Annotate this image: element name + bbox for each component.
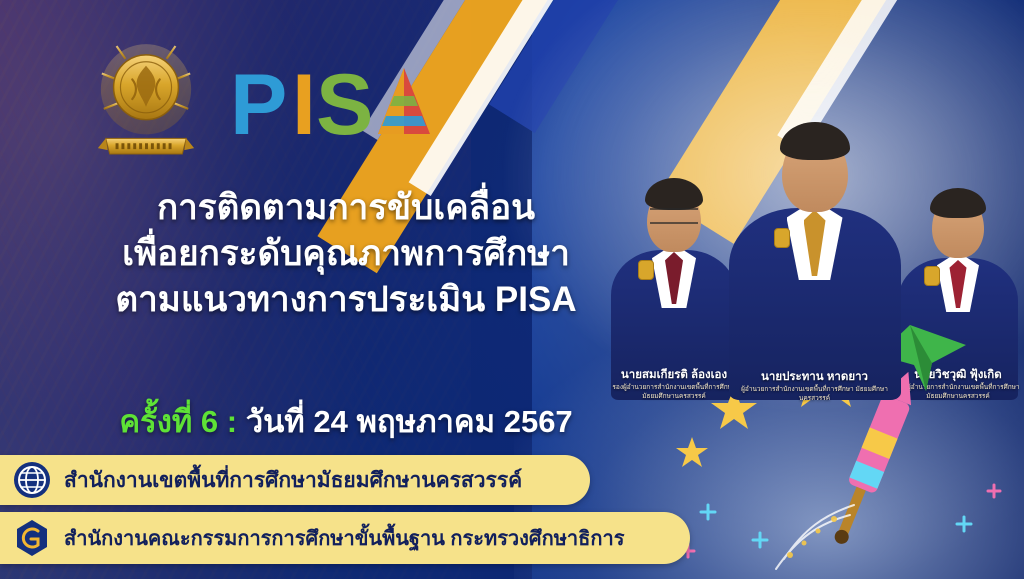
poster-canvas: P I S นายสมเกียรติ ล้องเอง <box>0 0 1024 579</box>
title-line-2: เพื่อยกระดับคุณภาพการศึกษา <box>36 231 656 277</box>
ministry-of-education-emblem <box>92 28 200 178</box>
session-label: ครั้งที่ 6 : <box>119 404 237 439</box>
svg-text:P: P <box>230 57 287 153</box>
pisa-logo: P I S <box>228 52 448 162</box>
obec-hexagon-icon <box>12 518 52 558</box>
globe-icon <box>12 460 52 500</box>
date-text: วันที่ 24 พฤษภาคม 2567 <box>246 404 573 439</box>
organization-bar-primary: สำนักงานเขตพื้นที่การศึกษามัธยมศึกษานครส… <box>0 455 590 505</box>
person-center-role: ผู้อำนวยการสำนักงานเขตพื้นที่การศึกษา มั… <box>740 386 890 404</box>
person-center: นายประทาน หาดยาว ผู้อำนวยการสำนักงานเขตพ… <box>722 40 907 400</box>
svg-text:I: I <box>292 57 316 153</box>
svg-text:S: S <box>316 57 373 153</box>
title-line-1: การติดตามการขับเคลื่อน <box>36 185 656 231</box>
organization-primary-text: สำนักงานเขตพื้นที่การศึกษามัธยมศึกษานครส… <box>64 464 522 497</box>
organization-secondary-text: สำนักงานคณะกรรมการการศึกษาขั้นพื้นฐาน กร… <box>64 522 624 554</box>
organization-bar-secondary: สำนักงานคณะกรรมการการศึกษาขั้นพื้นฐาน กร… <box>0 512 690 564</box>
person-center-name: นายประทาน หาดยาว <box>740 368 890 386</box>
page-title: การติดตามการขับเคลื่อน เพื่อยกระดับคุณภา… <box>36 185 656 324</box>
session-date: ครั้งที่ 6 : วันที่ 24 พฤษภาคม 2567 <box>36 396 656 446</box>
title-line-3: ตามแนวทางการประเมิน PISA <box>36 277 656 323</box>
